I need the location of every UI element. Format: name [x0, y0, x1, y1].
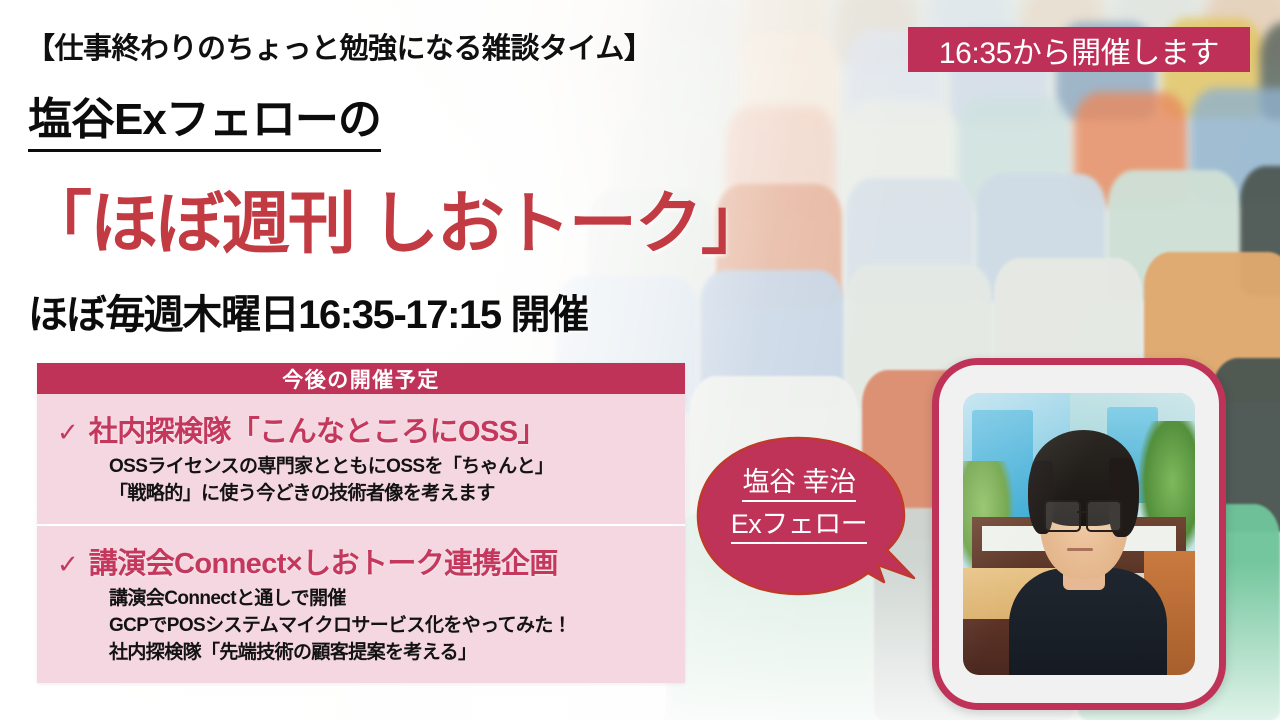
kicker-text: 【仕事終わりのちょっと勉強になる雑談タイム】: [26, 25, 652, 67]
description-line: 「戦略的」に使う今どきの技術者像を考えます: [109, 481, 675, 508]
list-item-title: 社内探検隊「こんなところにOSS」: [89, 408, 546, 450]
list-item-heading: ✓ 社内探検隊「こんなところにOSS」: [47, 408, 675, 450]
list-item: ✓ 社内探検隊「こんなところにOSS」 OSSライセンスの専門家とともにOSSを…: [37, 394, 685, 524]
list-item-description: OSSライセンスの専門家とともにOSSを「ちゃんと」 「戦略的」に使う今どきの技…: [109, 454, 675, 508]
list-item-heading: ✓ 講演会Connect×しおトーク連携企画: [47, 540, 675, 582]
check-icon: ✓: [57, 551, 79, 577]
page-title: 「ほぼ週刊 しおトーク」: [24, 168, 767, 267]
list-item-description: 講演会Connectと通しで開催 GCPでPOSシステムマイクロサービス化をやっ…: [109, 586, 675, 667]
description-line: 講演会Connectと通しで開催: [109, 586, 675, 613]
upcoming-schedule-panel: 今後の開催予定 ✓ 社内探検隊「こんなところにOSS」 OSSライセンスの専門家…: [37, 363, 685, 683]
speaker-photo-frame: [932, 358, 1226, 710]
description-line: 社内探検隊「先端技術の顧客提案を考える」: [109, 640, 675, 667]
photo-glare: [963, 393, 1195, 675]
description-line: OSSライセンスの専門家とともにOSSを「ちゃんと」: [109, 454, 675, 481]
panel-header-title: 今後の開催予定: [37, 363, 685, 394]
slide-canvas: 【仕事終わりのちょっと勉強になる雑談タイム】 塩谷Exフェローの 「ほぼ週刊 し…: [0, 0, 1280, 720]
avatar: [963, 393, 1195, 675]
status-badge-start-time: 16:35から開催します: [908, 27, 1250, 72]
list-item-title: 講演会Connect×しおトーク連携企画: [89, 540, 558, 582]
host-name-line: 塩谷Exフェローの: [28, 83, 381, 152]
recurring-schedule-text: ほぼ毎週木曜日16:35-17:15 開催: [28, 282, 588, 340]
panel-body: ✓ 社内探検隊「こんなところにOSS」 OSSライセンスの専門家とともにOSSを…: [37, 394, 685, 683]
list-item: ✓ 講演会Connect×しおトーク連携企画 講演会Connectと通しで開催 …: [37, 524, 685, 683]
check-icon: ✓: [57, 419, 79, 445]
description-line: GCPでPOSシステムマイクロサービス化をやってみた！: [109, 613, 675, 640]
